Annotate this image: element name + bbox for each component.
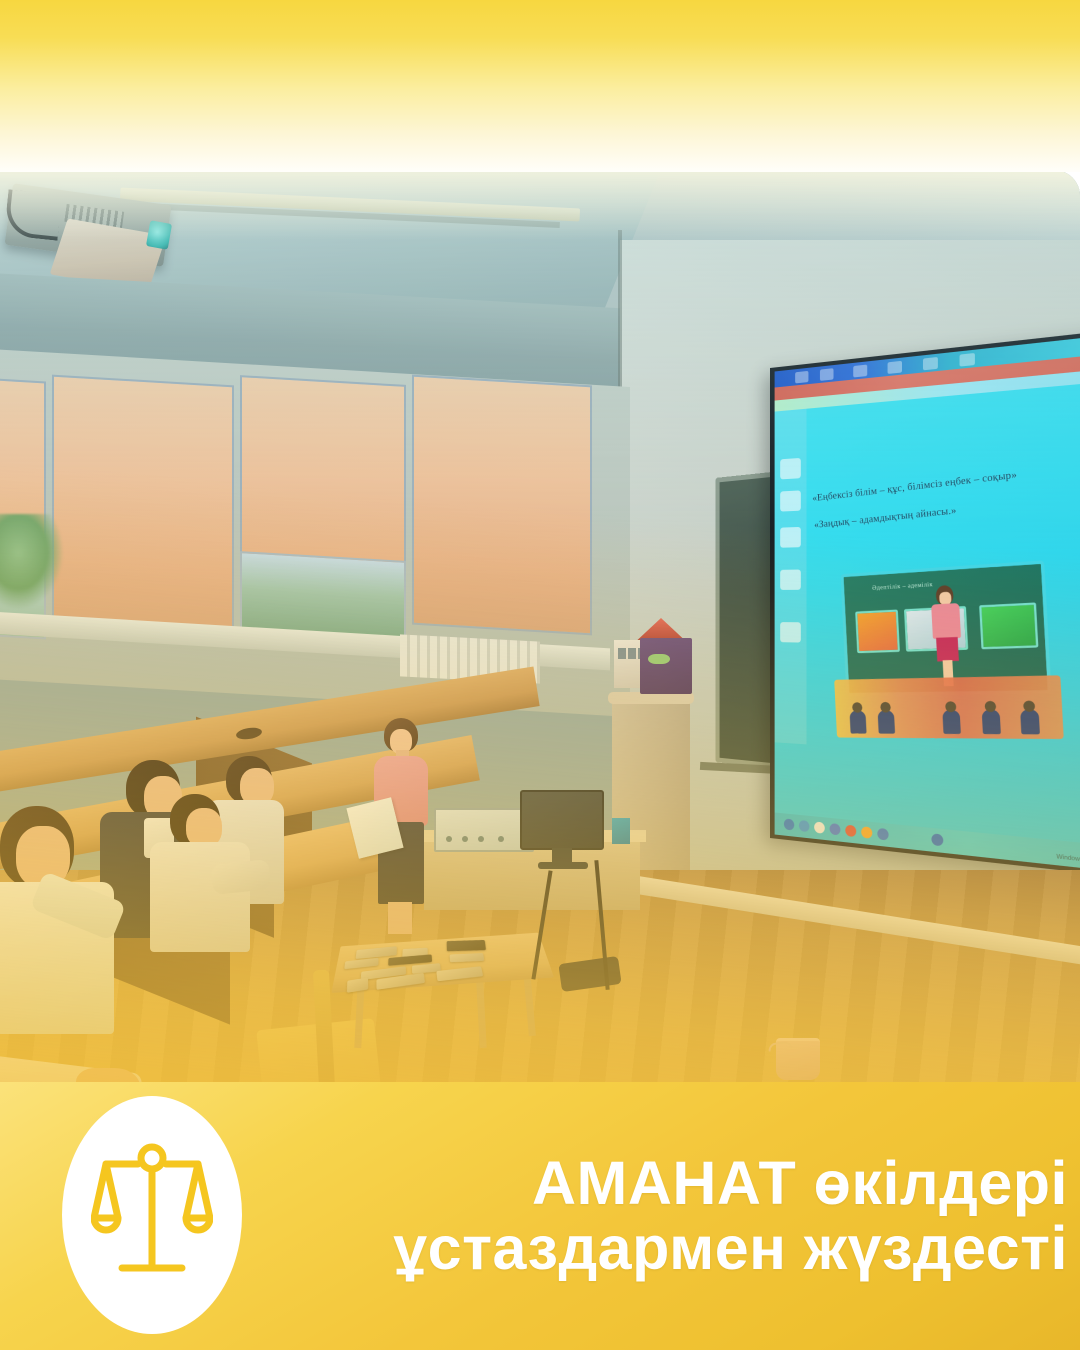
banner-text-block: АМАНАТ өкілдері ұстаздармен жүздесті [256, 1104, 1068, 1328]
small-flag [612, 818, 630, 844]
desktop-monitor [520, 790, 604, 850]
student-arm [211, 859, 272, 895]
taskbar-icon[interactable] [799, 820, 809, 832]
taskbar-icon[interactable] [784, 818, 794, 830]
taskbar-icon[interactable] [861, 826, 872, 839]
illustration-pupil [1020, 710, 1040, 735]
illustration-pupil [982, 710, 1001, 734]
browser-tab[interactable] [888, 361, 902, 374]
taskbar-icon[interactable] [814, 821, 825, 833]
model-house [614, 618, 694, 696]
monitor-base [538, 862, 588, 869]
illustration-pupil [849, 711, 866, 734]
taskbar-clock: Windows іске қосу [1056, 854, 1080, 867]
bottom-banner: АМАНАТ өкілдері ұстаздармен жүздесті [0, 1082, 1080, 1350]
window-blind [412, 375, 592, 636]
amp-knob [446, 836, 452, 842]
illustration-pupil [878, 710, 896, 733]
browser-tab[interactable] [820, 368, 834, 381]
banner-headline-line-1: АМАНАТ өкілдері [256, 1151, 1068, 1216]
illustration-pupils-row [834, 675, 1064, 739]
logo-container [62, 1096, 242, 1334]
projected-desktop: «Еңбексіз білім – құс, білімсіз еңбек – … [775, 334, 1080, 872]
top-gradient-band [0, 0, 1080, 172]
model-house-body [640, 638, 692, 694]
scales-of-justice-icon [91, 1140, 213, 1290]
model-house-roof [630, 618, 692, 640]
amp-knob [478, 836, 484, 842]
mobile-phone [344, 958, 378, 970]
model-window [628, 648, 636, 659]
potted-plant [0, 514, 64, 610]
taskbar-icon[interactable] [830, 823, 841, 835]
taskbar-icon[interactable] [877, 828, 888, 841]
banner-headline-line-2: ұстаздармен жүздесті [256, 1216, 1068, 1281]
slide-thumbnail[interactable] [780, 490, 801, 511]
teacher-blouse [931, 603, 961, 639]
student [150, 794, 270, 954]
browser-tab[interactable] [795, 371, 808, 384]
model-house-decal [648, 654, 670, 664]
slide-quote-line-1: «Еңбексіз білім – құс, білімсіз еңбек – … [812, 470, 1017, 504]
illustration-teacher [928, 584, 966, 685]
social-media-poster: «Еңбексіз білім – құс, білімсіз еңбек – … [0, 0, 1080, 1350]
presenter-legs [388, 902, 412, 934]
slide-thumbnail[interactable] [780, 622, 801, 642]
mobile-phone [447, 940, 486, 951]
slide-thumbnail-sidebar[interactable] [775, 409, 807, 745]
window-blind [52, 375, 234, 636]
projector-lens [146, 220, 172, 249]
audio-amplifier [434, 808, 534, 852]
browser-tab[interactable] [853, 365, 867, 378]
illustration-card [979, 602, 1038, 649]
mobile-phone [347, 977, 368, 992]
model-window [618, 648, 626, 659]
taskbar-icon[interactable] [845, 825, 856, 838]
slide-thumbnail[interactable] [780, 527, 801, 548]
slide-thumbnail[interactable] [780, 458, 801, 479]
slide-quote-line-2: «Заңдық – адамдықтың айнасы.» [814, 506, 957, 531]
mobile-phone [436, 966, 483, 981]
classroom-photo: «Еңбексіз білім – құс, білімсіз еңбек – … [0, 170, 1080, 1088]
teacher-skirt [936, 637, 959, 662]
projection-screen: «Еңбексіз білім – құс, білімсіз еңбек – … [770, 329, 1080, 878]
slide-thumbnail[interactable] [780, 570, 801, 590]
mobile-phone [450, 953, 485, 962]
student [0, 806, 136, 1036]
slide-illustration-title: Әдептілік – әдемілік [872, 582, 933, 592]
illustration-card [855, 609, 900, 653]
browser-tab[interactable] [960, 353, 975, 367]
presenter-woman [366, 718, 432, 938]
illustration-pupil [942, 710, 961, 734]
amp-knob [498, 836, 504, 842]
logo-oval [62, 1096, 242, 1334]
amp-knob [462, 836, 468, 842]
browser-tab[interactable] [923, 357, 938, 370]
student-shirt [150, 842, 250, 952]
taskbar-icon[interactable] [931, 833, 943, 846]
